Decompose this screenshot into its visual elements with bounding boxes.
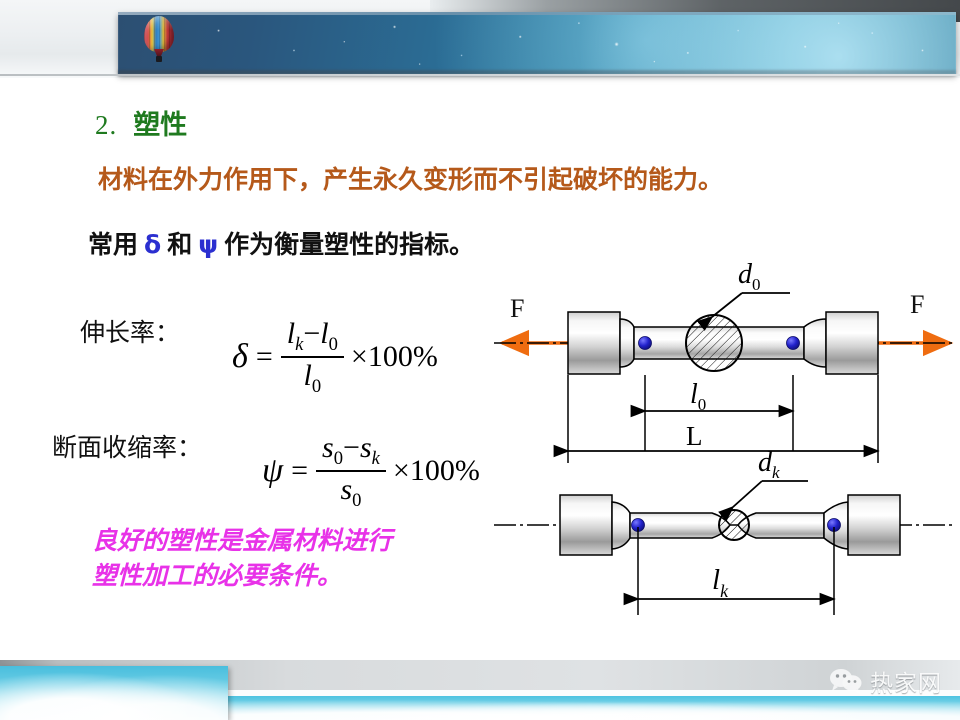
specimen-undeformed: F F [494, 259, 954, 463]
force-label-right: F [910, 290, 924, 319]
indicators-middle: 和 [167, 230, 192, 259]
elongation-lhs: δ [232, 338, 256, 376]
footer-cloud-strip [225, 696, 960, 720]
d0-leader-line [712, 293, 742, 317]
grip-head-left-k [560, 495, 612, 555]
symbol-psi: ψ [198, 230, 218, 259]
symbol-delta: δ [144, 230, 161, 259]
heading-text: 塑性 [133, 110, 187, 141]
dk-label: dk [758, 447, 780, 482]
rnum2-var: s [360, 431, 372, 464]
grip-head-left [568, 312, 620, 374]
indicators-sentence: 常用δ和ψ作为衡量塑性的指标。 [88, 225, 474, 261]
num2-sub: 0 [329, 334, 338, 355]
l0-subscript: 0 [698, 395, 707, 414]
cross-section-circle-dk [719, 510, 749, 540]
indicators-suffix: 作为衡量塑性的指标。 [224, 230, 474, 259]
specimen-fractured: dk lk [494, 447, 954, 615]
slide-header [0, 0, 960, 88]
lk-label: lk [712, 564, 729, 601]
watermark: 热家网 [829, 664, 942, 698]
rden-var: s [340, 473, 352, 506]
reduction-tail: ×100% [386, 454, 480, 488]
wechat-icon [829, 667, 863, 695]
banner-top-edge [118, 12, 956, 15]
definition-text: 材料在外力作用下，产生永久变形而不引起破坏的能力。 [98, 160, 723, 196]
reduction-numerator: s0−sk [316, 432, 386, 470]
reduction-formula: ψ = s0−sk s0 ×100% [262, 432, 480, 510]
balloon-envelope [144, 16, 174, 52]
slide-canvas: 2.塑性 材料在外力作用下，产生永久变形而不引起破坏的能力。 常用δ和ψ作为衡量… [0, 0, 960, 720]
num-minus: − [303, 317, 320, 350]
num1-var: l [287, 317, 295, 350]
gauge-mark-right [787, 337, 800, 350]
heading-number: 2. [95, 110, 117, 140]
elongation-formula: δ = lk−l0 l0 ×100% [232, 318, 438, 396]
elongation-numerator: lk−l0 [281, 318, 344, 356]
shaft-right-neck [738, 513, 824, 538]
force-label-left: F [510, 294, 524, 323]
tensile-test-specimen-diagram: F F [490, 255, 960, 635]
header-divider-rule [0, 74, 960, 76]
elongation-equals: = [256, 340, 281, 374]
reduction-label: 断面收缩率： [52, 428, 202, 464]
footer-cloud-image-block [0, 666, 228, 720]
rnum1-var: s [322, 431, 334, 464]
elongation-fraction: lk−l0 l0 [281, 318, 344, 396]
cross-section-circle-d0 [686, 315, 742, 371]
grip-head-right-k [848, 495, 900, 555]
reduction-lhs: ψ [262, 452, 291, 490]
den-var: l [304, 359, 312, 392]
reduction-fraction: s0−sk s0 [316, 432, 386, 510]
rden-sub: 0 [352, 490, 361, 511]
shaft-left-neck [630, 513, 730, 538]
page-title: 2.塑性 [95, 103, 187, 142]
header-banner-image [118, 12, 956, 74]
conclusion-note-line-1: 良好的塑性是金属材料进行 [92, 524, 392, 559]
l0-label: l0 [690, 379, 706, 414]
num2-var: l [320, 317, 328, 350]
watermark-text: 热家网 [870, 664, 942, 698]
elongation-label: 伸长率： [80, 313, 180, 349]
indicators-prefix: 常用 [88, 230, 138, 259]
hot-air-balloon-icon [142, 16, 176, 68]
conclusion-note-line-2: 塑性加工的必要条件。 [92, 559, 392, 594]
lk-subscript: k [720, 581, 729, 601]
d0-label: d0 [738, 259, 761, 294]
reduction-equals: = [291, 454, 316, 488]
grip-head-right [826, 312, 878, 374]
den-sub: 0 [312, 376, 321, 397]
rnum-minus: − [343, 431, 360, 464]
elongation-denominator: l0 [298, 358, 328, 397]
dk-leader-line [733, 481, 762, 507]
rnum2-sub: k [372, 448, 380, 469]
balloon-basket [156, 56, 162, 62]
dk-subscript: k [772, 463, 780, 482]
fillet-left-k [612, 502, 630, 549]
reduction-denominator: s0 [334, 472, 367, 511]
gauge-mark-left [639, 337, 652, 350]
conclusion-note: 良好的塑性是金属材料进行 塑性加工的必要条件。 [92, 524, 392, 593]
elongation-tail: ×100% [344, 340, 438, 374]
rnum1-sub: 0 [334, 448, 343, 469]
L-label: L [686, 421, 703, 451]
fillet-left [620, 319, 634, 367]
fillet-right [804, 319, 826, 367]
d0-subscript: 0 [752, 275, 761, 294]
